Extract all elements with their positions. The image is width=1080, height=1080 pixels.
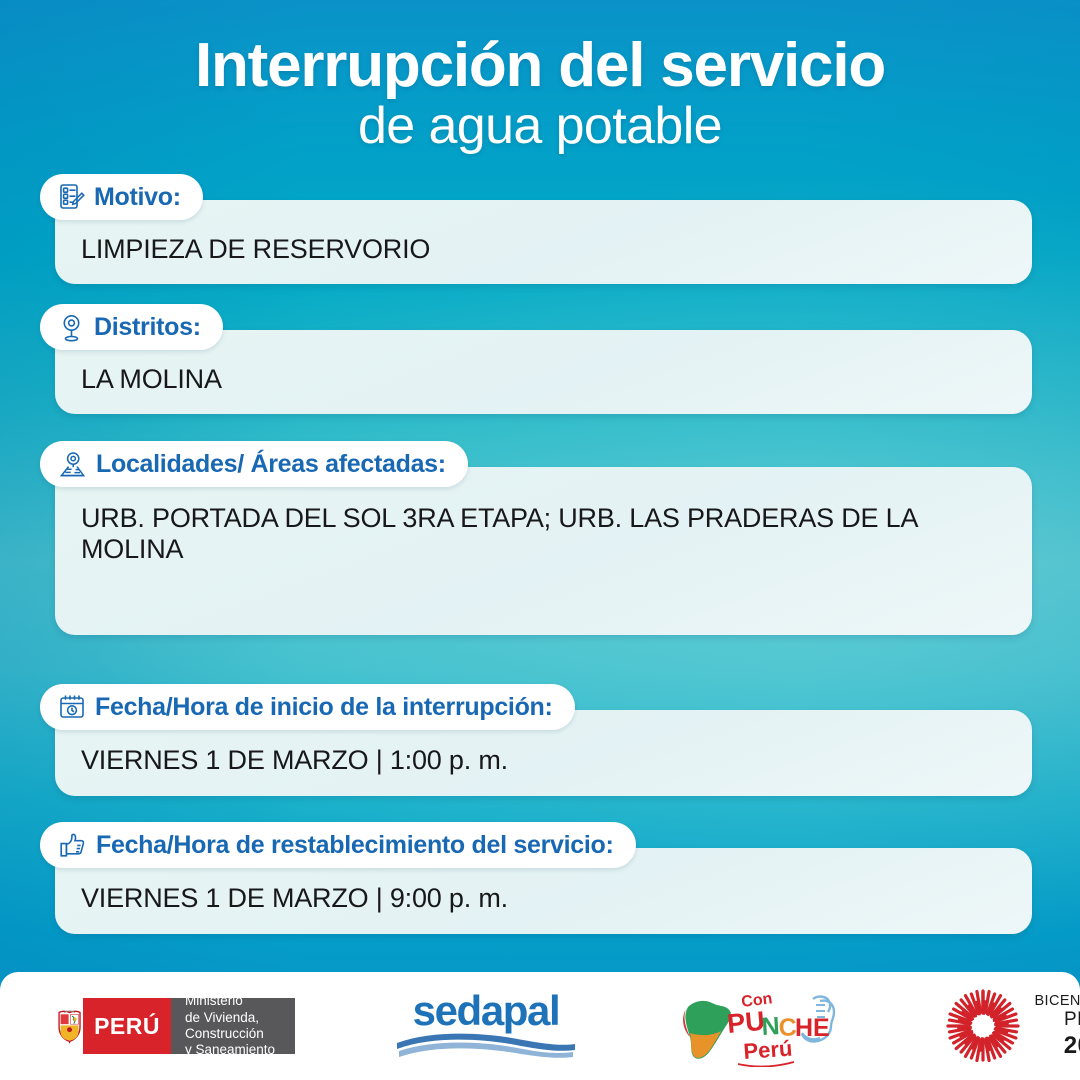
- con-punche-peru-icon: Con PU N C HE Perú: [670, 985, 858, 1067]
- footer-logo-bar: PERÚ Ministerio de Vivienda, Construcció…: [0, 972, 1080, 1080]
- svg-text:Perú: Perú: [743, 1036, 794, 1064]
- localidades-value: URB. PORTADA DEL SOL 3RA ETAPA; URB. LAS…: [81, 503, 1006, 565]
- svg-text:HE: HE: [795, 1014, 830, 1042]
- ministry-line-3: y Saneamiento: [185, 1042, 281, 1058]
- bicentenario-burst-icon: [944, 987, 1022, 1065]
- inicio-value: VIERNES 1 DE MARZO | 1:00 p. m.: [81, 745, 1006, 776]
- sedapal-logo: sedapal: [393, 991, 578, 1061]
- motivo-label: Motivo:: [94, 183, 181, 212]
- ministry-line-1: Ministerio: [185, 993, 281, 1009]
- page-title-line-1: Interrupción del servicio: [0, 34, 1080, 97]
- map-pin-icon: [58, 450, 87, 479]
- location-pin-icon: [58, 313, 85, 342]
- bicentenario-line-3: 2024: [1034, 1032, 1080, 1060]
- restablecimiento-value: VIERNES 1 DE MARZO | 9:00 p. m.: [81, 883, 1006, 914]
- peru-coat-of-arms-icon: [56, 998, 83, 1054]
- inicio-label-pill: Fecha/Hora de inicio de la interrupción:: [40, 684, 575, 730]
- con-punche-peru-logo: Con PU N C HE Perú: [670, 985, 858, 1067]
- ministry-name-block: Ministerio de Vivienda, Construcción y S…: [171, 998, 295, 1054]
- localidades-label: Localidades/ Áreas afectadas:: [96, 450, 446, 479]
- restablecimiento-label-pill: Fecha/Hora de restablecimiento del servi…: [40, 822, 636, 868]
- distritos-value: LA MOLINA: [81, 364, 1006, 395]
- notepad-pencil-icon: [58, 183, 85, 212]
- sedapal-wordmark: sedapal: [413, 991, 560, 1031]
- localidades-value-box: URB. PORTADA DEL SOL 3RA ETAPA; URB. LAS…: [55, 467, 1032, 635]
- thumbs-up-icon: [58, 831, 87, 860]
- localidades-label-pill: Localidades/ Áreas afectadas:: [40, 441, 468, 487]
- distritos-label: Distritos:: [94, 313, 201, 342]
- calendar-clock-icon: [58, 693, 86, 721]
- ministry-peru-block: PERÚ: [83, 998, 171, 1054]
- bicentenario-line-1: BICENTENARIO: [1034, 993, 1080, 1010]
- bicentenario-text: BICENTENARIO PERÚ 2024: [1034, 993, 1080, 1060]
- page-title-line-2: de agua potable: [0, 97, 1080, 155]
- ministry-logo: PERÚ Ministerio de Vivienda, Construcció…: [56, 995, 295, 1057]
- motivo-value-box: LIMPIEZA DE RESERVORIO: [55, 200, 1032, 284]
- bicentenario-logo: BICENTENARIO PERÚ 2024: [944, 987, 1080, 1065]
- inicio-label: Fecha/Hora de inicio de la interrupción:: [95, 693, 553, 722]
- distritos-label-pill: Distritos:: [40, 304, 223, 350]
- svg-text:PU: PU: [726, 1006, 766, 1039]
- page-title: Interrupción del servicio de agua potabl…: [0, 34, 1080, 155]
- ministry-line-2: de Vivienda, Construcción: [185, 1010, 281, 1043]
- sedapal-waves-icon: [393, 1031, 578, 1061]
- bicentenario-line-2: PERÚ: [1034, 1009, 1080, 1031]
- restablecimiento-label: Fecha/Hora de restablecimiento del servi…: [96, 831, 614, 860]
- motivo-label-pill: Motivo:: [40, 174, 203, 220]
- motivo-value: LIMPIEZA DE RESERVORIO: [81, 234, 1006, 265]
